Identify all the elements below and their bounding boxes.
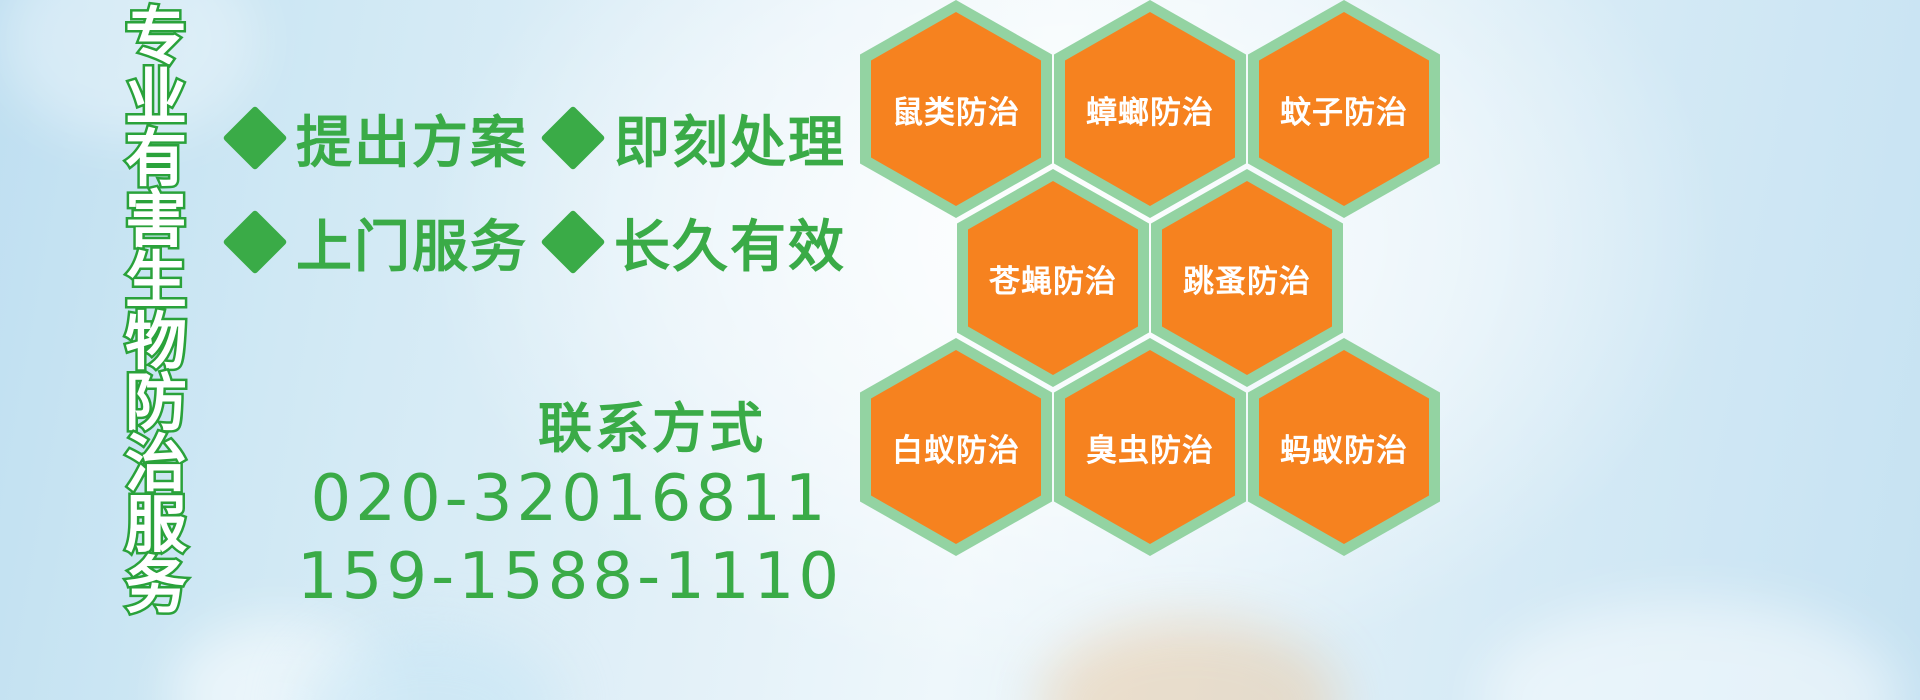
feature-item-long-lasting-effect: 长久有效 — [550, 202, 846, 283]
vertical-title-char-8: 治 — [125, 433, 187, 495]
diamond-bullet-icon — [540, 105, 605, 170]
background-blur-1 — [170, 620, 390, 700]
feature-label: 提出方案 — [296, 98, 528, 179]
vertical-title-char-1: 专 — [125, 6, 187, 68]
vertical-title-char-9: 服 — [125, 494, 187, 556]
service-label: 蟑螂防治 — [1086, 87, 1214, 132]
service-label: 蚂蚁防治 — [1280, 425, 1408, 470]
background-blur-2 — [300, 630, 560, 700]
feature-label: 即刻处理 — [614, 98, 846, 179]
feature-item-door-to-door-service: 上门服务 — [232, 202, 528, 283]
service-label: 白蚁防治 — [892, 425, 1020, 470]
vertical-title-char-2: 业 — [125, 67, 187, 129]
vertical-title-char-3: 有 — [125, 128, 187, 190]
feature-item-propose-plan: 提出方案 — [232, 98, 528, 179]
contact-heading: 联系方式 — [432, 398, 872, 460]
vertical-title-char-7: 防 — [125, 372, 187, 434]
feature-label: 长久有效 — [614, 202, 846, 283]
vertical-title-char-6: 物 — [125, 311, 187, 373]
pest-control-banner: 专 业 有 害 生 物 防 治 服 务 提出方案 即刻处理 上门服务 — [0, 0, 1920, 700]
service-label: 苍蝇防治 — [989, 256, 1117, 301]
background-blur-4 — [1480, 600, 1900, 700]
contact-phone-landline[interactable]: 020-32016811 — [268, 460, 872, 538]
vertical-title-char-5: 生 — [125, 250, 187, 312]
contact-phone-mobile[interactable]: 159-1588-1110 — [268, 538, 872, 616]
service-hex-ant[interactable]: 蚂蚁防治 — [1248, 338, 1440, 556]
feature-item-immediate-handling: 即刻处理 — [550, 98, 846, 179]
diamond-bullet-icon — [222, 209, 287, 274]
feature-row-2: 上门服务 长久有效 — [232, 190, 872, 294]
feature-label: 上门服务 — [296, 202, 528, 283]
service-hex-bedbug[interactable]: 臭虫防治 — [1054, 338, 1246, 556]
feature-list: 提出方案 即刻处理 上门服务 长久有效 — [232, 86, 872, 294]
vertical-title-char-4: 害 — [125, 189, 187, 251]
feature-row-1: 提出方案 即刻处理 — [232, 86, 872, 190]
vertical-title-char-10: 务 — [125, 555, 187, 617]
service-label: 臭虫防治 — [1086, 425, 1214, 470]
service-label: 蚊子防治 — [1280, 87, 1408, 132]
vertical-title: 专 业 有 害 生 物 防 治 服 务 — [104, 6, 208, 566]
service-honeycomb: 鼠类防治 蟑螂防治 蚊子防治 苍蝇防治 跳蚤防治 — [856, 0, 1476, 700]
service-label: 跳蚤防治 — [1183, 256, 1311, 301]
diamond-bullet-icon — [540, 209, 605, 274]
service-label: 鼠类防治 — [892, 87, 1020, 132]
service-hex-termite[interactable]: 白蚁防治 — [860, 338, 1052, 556]
contact-block: 联系方式 020-32016811 159-1588-1110 — [232, 398, 872, 616]
diamond-bullet-icon — [222, 105, 287, 170]
